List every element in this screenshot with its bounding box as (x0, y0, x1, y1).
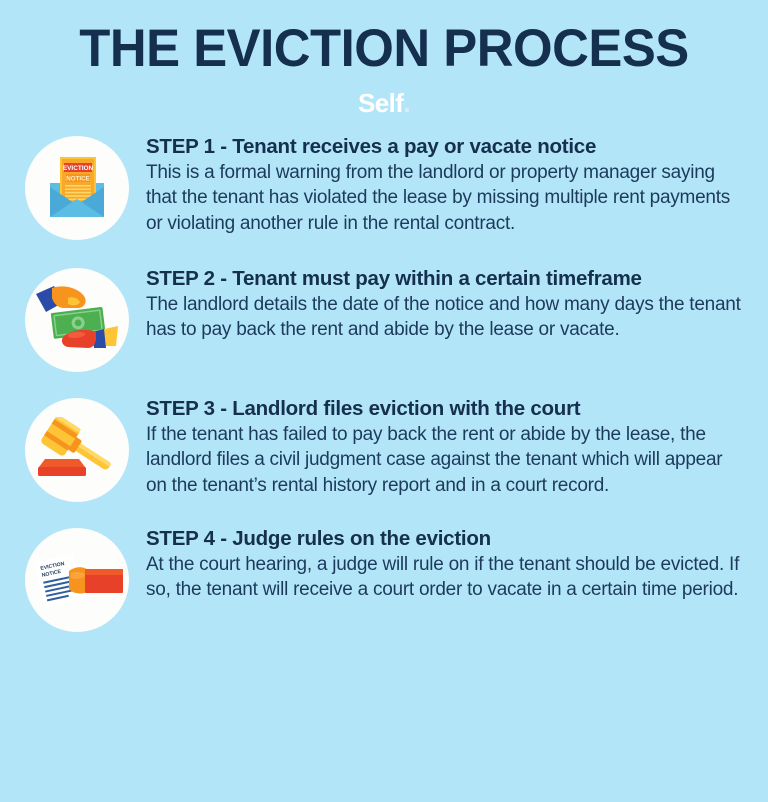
step-title: STEP 1 - Tenant receives a pay or vacate… (146, 134, 742, 159)
step-title: STEP 4 - Judge rules on the eviction (146, 526, 742, 551)
page-title: THE EVICTION PROCESS (15, 22, 752, 76)
step-2-body: STEP 2 - Tenant must pay within a certai… (146, 264, 742, 343)
step-1-icon-wrap: EVICTION NOTICE (22, 132, 132, 240)
icon-circle: EVICTION NOTICE (25, 136, 129, 240)
icon-circle: EVICTION NOTICE (25, 528, 129, 632)
brand-logo-dot: . (403, 88, 410, 118)
step-4-icon-wrap: EVICTION NOTICE (22, 524, 132, 632)
icon-circle (25, 398, 129, 502)
step-3-body: STEP 3 - Landlord files eviction with th… (146, 394, 742, 498)
eviction-notice-envelope-icon: EVICTION NOTICE (38, 153, 116, 223)
step-title: STEP 2 - Tenant must pay within a certai… (146, 266, 742, 291)
step-item-4: EVICTION NOTICE (22, 524, 742, 632)
step-item-3: STEP 3 - Landlord files eviction with th… (22, 394, 742, 502)
steps-list: EVICTION NOTICE (0, 116, 768, 802)
step-text: If the tenant has failed to pay back the… (146, 422, 742, 498)
step-text: The landlord details the date of the not… (146, 292, 742, 343)
hand-holding-notice-icon: EVICTION NOTICE (31, 549, 123, 611)
brand-logo: Self. (0, 90, 768, 116)
icon-circle (25, 268, 129, 372)
step-title: STEP 3 - Landlord files eviction with th… (146, 396, 742, 421)
step-text: At the court hearing, a judge will rule … (146, 552, 742, 603)
poster-header: THE EVICTION PROCESS Self. (0, 0, 768, 116)
svg-text:EVICTION: EVICTION (63, 165, 94, 172)
step-1-body: STEP 1 - Tenant receives a pay or vacate… (146, 132, 742, 236)
step-item-1: EVICTION NOTICE (22, 132, 742, 240)
gavel-icon (35, 417, 119, 483)
svg-text:NOTICE: NOTICE (66, 176, 89, 183)
step-4-body: STEP 4 - Judge rules on the eviction At … (146, 524, 742, 603)
infographic-poster: THE EVICTION PROCESS Self. (0, 0, 768, 802)
step-item-2: STEP 2 - Tenant must pay within a certai… (22, 264, 742, 372)
step-2-icon-wrap (22, 264, 132, 372)
hands-exchanging-money-icon (34, 282, 120, 358)
step-text: This is a formal warning from the landlo… (146, 160, 742, 236)
step-3-icon-wrap (22, 394, 132, 502)
brand-logo-text: Self (358, 88, 403, 118)
